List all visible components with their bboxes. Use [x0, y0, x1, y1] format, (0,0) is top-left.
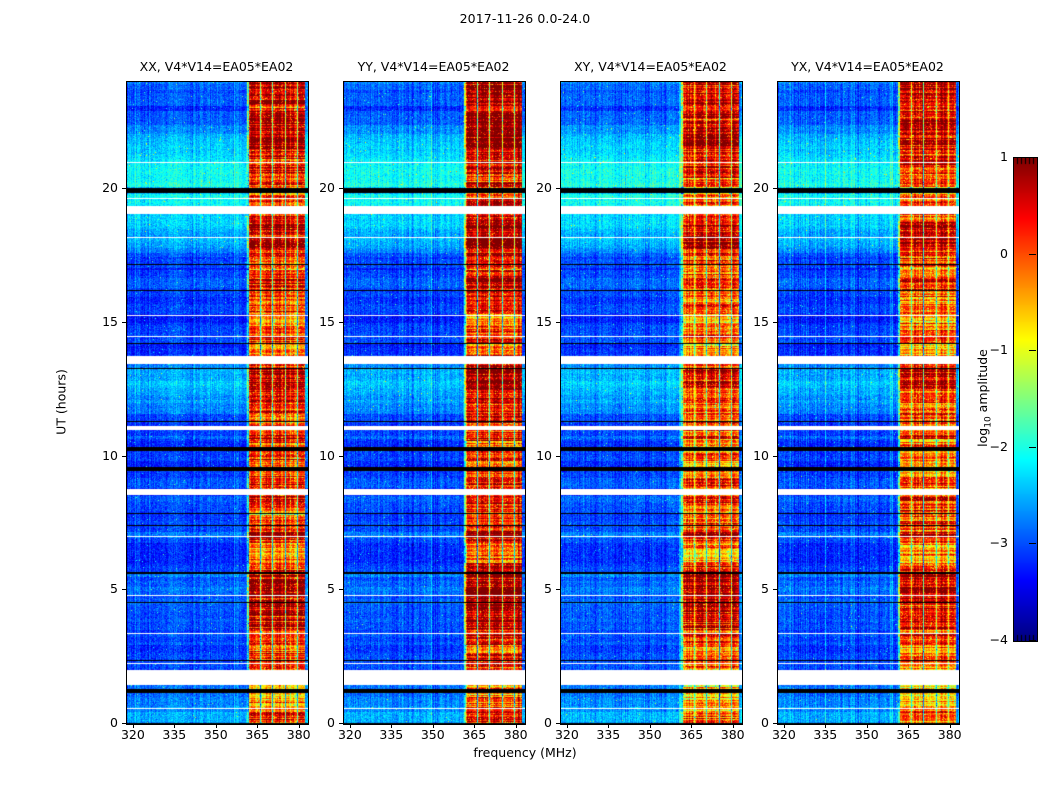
y-tick-mark	[339, 723, 343, 724]
y-tick-mark	[122, 589, 126, 590]
x-axis-label: frequency (MHz)	[0, 745, 1050, 760]
colorbar-under-hatch	[1013, 641, 1036, 646]
waterfall-panel-yx[interactable]	[777, 81, 960, 725]
y-tick-mark	[773, 456, 777, 457]
y-tick-mark	[773, 589, 777, 590]
y-tick-label: 20	[514, 180, 552, 195]
y-tick-mark	[556, 589, 560, 590]
colorbar-tick-mark	[1029, 157, 1036, 158]
x-tick-label: 380	[925, 727, 975, 742]
y-tick-label: 0	[514, 715, 552, 730]
colorbar-tick-label: 1	[966, 149, 1008, 164]
waterfall-panel-xx[interactable]	[126, 81, 309, 725]
colorbar-tick-mark	[1029, 543, 1036, 544]
y-tick-label: 15	[731, 314, 769, 329]
colorbar-tick-mark	[1029, 254, 1036, 255]
y-tick-mark	[773, 723, 777, 724]
y-tick-label: 10	[80, 448, 118, 463]
y-tick-mark	[556, 188, 560, 189]
y-tick-label: 0	[731, 715, 769, 730]
waterfall-panel-yy[interactable]	[343, 81, 526, 725]
y-tick-label: 15	[297, 314, 335, 329]
y-tick-label: 5	[514, 581, 552, 596]
colorbar-tick-label: 0	[966, 246, 1008, 261]
colorbar-tick-mark	[1029, 350, 1036, 351]
colorbar-tick-label: −2	[966, 439, 1008, 454]
y-tick-mark	[339, 456, 343, 457]
colorbar-label-sub: 10	[983, 416, 993, 427]
y-tick-mark	[339, 589, 343, 590]
panel-title-yx: YX, V4*V14=EA05*EA02	[737, 59, 998, 75]
y-tick-label: 20	[297, 180, 335, 195]
y-tick-label: 0	[80, 715, 118, 730]
y-axis-label: UT (hours)	[54, 369, 69, 435]
y-tick-mark	[773, 322, 777, 323]
y-tick-mark	[339, 188, 343, 189]
y-tick-label: 0	[297, 715, 335, 730]
y-tick-mark	[339, 322, 343, 323]
y-tick-mark	[556, 322, 560, 323]
y-tick-label: 10	[514, 448, 552, 463]
y-tick-label: 10	[297, 448, 335, 463]
colorbar-label: log10 amplitude	[975, 349, 994, 447]
figure-suptitle: 2017-11-26 0.0-24.0	[0, 11, 1050, 26]
y-tick-label: 20	[731, 180, 769, 195]
y-tick-mark	[122, 723, 126, 724]
y-tick-label: 5	[297, 581, 335, 596]
colorbar	[1013, 157, 1038, 642]
colorbar-tick-mark	[1029, 640, 1036, 641]
y-tick-mark	[556, 456, 560, 457]
y-tick-label: 15	[514, 314, 552, 329]
colorbar-tick-label: −4	[966, 632, 1008, 647]
colorbar-tick-mark	[1029, 447, 1036, 448]
y-tick-label: 10	[731, 448, 769, 463]
y-tick-mark	[556, 723, 560, 724]
y-tick-mark	[773, 188, 777, 189]
waterfall-panel-xy[interactable]	[560, 81, 743, 725]
colorbar-tick-label: −1	[966, 342, 1008, 357]
y-tick-label: 5	[80, 581, 118, 596]
y-tick-mark	[122, 322, 126, 323]
y-tick-label: 20	[80, 180, 118, 195]
figure-canvas: 2017-11-26 0.0-24.0 XX, V4*V14=EA05*EA02…	[0, 0, 1050, 800]
colorbar-tick-label: −3	[966, 535, 1008, 550]
colorbar-label-tail: amplitude	[975, 349, 990, 416]
y-tick-label: 5	[731, 581, 769, 596]
y-tick-mark	[122, 456, 126, 457]
y-tick-label: 15	[80, 314, 118, 329]
y-tick-mark	[122, 188, 126, 189]
